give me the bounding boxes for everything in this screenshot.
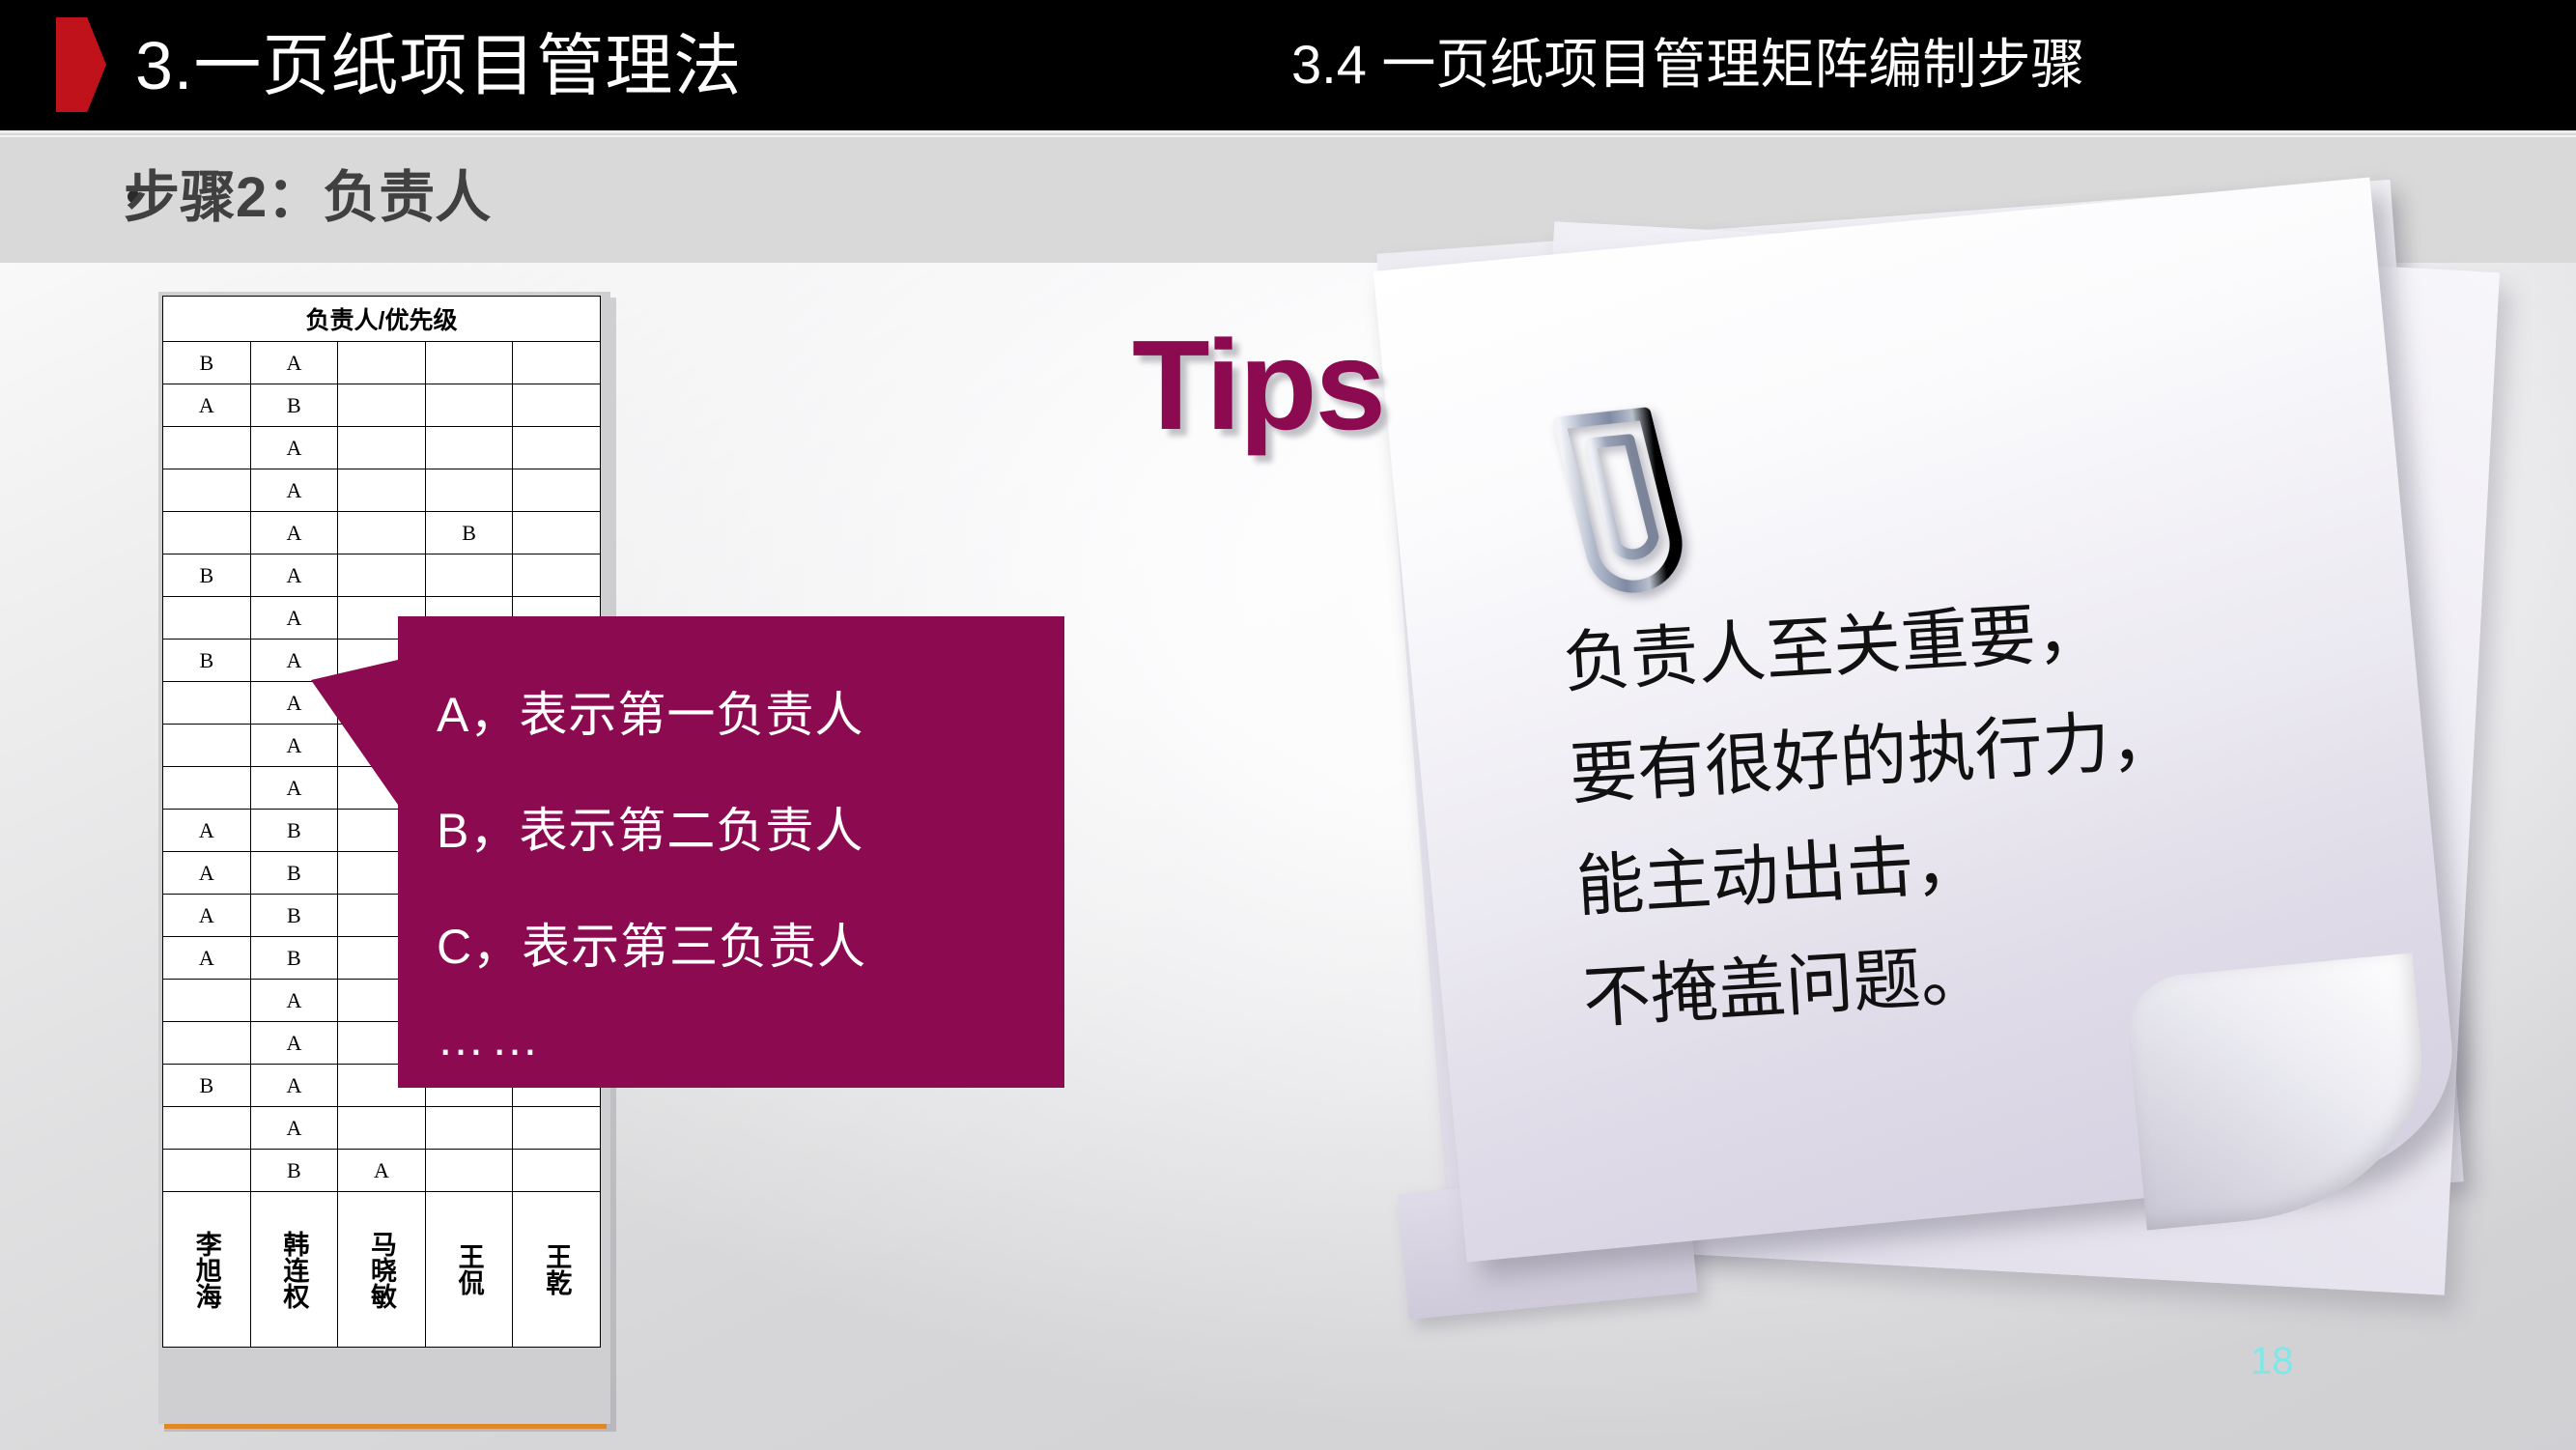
header-bar: 3.一页纸项目管理法 3.4 一页纸项目管理矩阵编制步骤 bbox=[0, 0, 2576, 130]
matrix-cell: B bbox=[163, 1065, 251, 1107]
matrix-row: AB bbox=[163, 384, 601, 427]
matrix-cell bbox=[513, 469, 601, 512]
matrix-cell bbox=[338, 384, 426, 427]
note-text-block: 负责人至关重要， 要有很好的执行力， 能主动出击， 不掩盖问题。 bbox=[1560, 556, 2435, 1054]
header-title-left: 3.一页纸项目管理法 bbox=[135, 6, 742, 126]
legend-callout: A，表示第一负责人 B，表示第二负责人 C，表示第三负责人 …… bbox=[398, 616, 1064, 1088]
matrix-cell: A bbox=[250, 427, 338, 469]
matrix-cell bbox=[163, 980, 251, 1022]
matrix-cell: A bbox=[338, 1150, 426, 1192]
matrix-row: A bbox=[163, 427, 601, 469]
matrix-cell bbox=[425, 427, 513, 469]
subtitle-highlight-line-2 bbox=[0, 135, 2576, 137]
page-number: 18 bbox=[2250, 1340, 2294, 1383]
matrix-cell: B bbox=[250, 937, 338, 980]
matrix-cell: A bbox=[250, 767, 338, 810]
matrix-cell: A bbox=[250, 512, 338, 554]
matrix-cell: A bbox=[163, 852, 251, 895]
matrix-cell bbox=[513, 427, 601, 469]
matrix-cell bbox=[513, 1150, 601, 1192]
matrix-cell bbox=[425, 469, 513, 512]
matrix-header-cell: 负责人/优先级 bbox=[163, 297, 601, 342]
subtitle-highlight-line-1 bbox=[0, 130, 2576, 133]
matrix-cell: A bbox=[250, 469, 338, 512]
matrix-owner-name-cell: 王侃 bbox=[425, 1192, 513, 1348]
matrix-cell bbox=[425, 342, 513, 384]
owner-name-text: 王侃 bbox=[451, 1243, 488, 1295]
matrix-cell: B bbox=[163, 554, 251, 597]
matrix-cell: A bbox=[250, 725, 338, 767]
header-title-right: 3.4 一页纸项目管理矩阵编制步骤 bbox=[1291, 14, 2084, 116]
matrix-cell: B bbox=[163, 640, 251, 682]
matrix-cell: A bbox=[250, 342, 338, 384]
matrix-cell bbox=[513, 512, 601, 554]
tips-heading: Tips bbox=[1132, 312, 1384, 458]
matrix-cell bbox=[163, 1107, 251, 1150]
callout-ellipsis: …… bbox=[437, 1005, 1045, 1072]
matrix-header-row: 负责人/优先级 bbox=[163, 297, 601, 342]
matrix-owner-name-cell: 韩连权 bbox=[250, 1192, 338, 1348]
matrix-cell bbox=[163, 597, 251, 640]
matrix-cell: A bbox=[163, 384, 251, 427]
matrix-cell: A bbox=[163, 937, 251, 980]
subtitle-text: 步骤2：负责人 bbox=[124, 152, 491, 244]
owner-name-text: 马晓敏 bbox=[363, 1231, 400, 1309]
matrix-underline bbox=[164, 1424, 607, 1429]
matrix-cell: A bbox=[250, 1022, 338, 1065]
callout-line: C，表示第三负责人 bbox=[437, 889, 1045, 1005]
matrix-cell bbox=[338, 554, 426, 597]
matrix-cell bbox=[513, 342, 601, 384]
matrix-cell: B bbox=[250, 1150, 338, 1192]
matrix-cell: B bbox=[250, 895, 338, 937]
matrix-cell bbox=[338, 342, 426, 384]
matrix-row: BA bbox=[163, 342, 601, 384]
matrix-cell bbox=[163, 767, 251, 810]
matrix-cell bbox=[163, 682, 251, 725]
matrix-cell bbox=[163, 427, 251, 469]
matrix-owner-name-cell: 马晓敏 bbox=[338, 1192, 426, 1348]
matrix-cell bbox=[163, 469, 251, 512]
matrix-cell bbox=[425, 384, 513, 427]
matrix-cell: B bbox=[163, 342, 251, 384]
matrix-cell: A bbox=[163, 810, 251, 852]
matrix-cell: A bbox=[250, 597, 338, 640]
matrix-cell bbox=[163, 1022, 251, 1065]
owner-name-text: 王乾 bbox=[538, 1243, 575, 1295]
matrix-row: BA bbox=[163, 1150, 601, 1192]
matrix-cell bbox=[425, 1107, 513, 1150]
callout-lines: A，表示第一负责人 B，表示第二负责人 C，表示第三负责人 …… bbox=[437, 657, 1045, 1072]
matrix-cell: A bbox=[250, 1107, 338, 1150]
matrix-row: A bbox=[163, 1107, 601, 1150]
matrix-cell: B bbox=[250, 384, 338, 427]
matrix-cell bbox=[338, 512, 426, 554]
owner-name-text: 李旭海 bbox=[188, 1231, 225, 1309]
matrix-cell bbox=[163, 725, 251, 767]
callout-line: A，表示第一负责人 bbox=[437, 657, 1045, 773]
matrix-cell bbox=[163, 512, 251, 554]
matrix-cell: A bbox=[250, 980, 338, 1022]
matrix-row: BA bbox=[163, 554, 601, 597]
matrix-cell bbox=[513, 1107, 601, 1150]
owner-name-text: 韩连权 bbox=[275, 1231, 312, 1309]
matrix-cell: A bbox=[250, 554, 338, 597]
matrix-cell: A bbox=[163, 895, 251, 937]
matrix-cell bbox=[425, 554, 513, 597]
matrix-cell bbox=[338, 469, 426, 512]
matrix-cell bbox=[338, 1107, 426, 1150]
matrix-cell bbox=[425, 1150, 513, 1192]
matrix-cell bbox=[338, 427, 426, 469]
matrix-owner-names-row: 李旭海韩连权马晓敏王侃王乾 bbox=[163, 1192, 601, 1348]
slide-root: 3.一页纸项目管理法 3.4 一页纸项目管理矩阵编制步骤 步骤2：负责人 bbox=[0, 0, 2576, 1450]
matrix-row: AB bbox=[163, 512, 601, 554]
matrix-cell: A bbox=[250, 640, 338, 682]
callout-line: B，表示第二负责人 bbox=[437, 773, 1045, 889]
matrix-cell: B bbox=[250, 810, 338, 852]
matrix-cell: B bbox=[425, 512, 513, 554]
matrix-owner-name-cell: 李旭海 bbox=[163, 1192, 251, 1348]
matrix-cell: A bbox=[250, 1065, 338, 1107]
matrix-cell: B bbox=[250, 852, 338, 895]
red-arrow-marker-icon bbox=[56, 17, 106, 112]
matrix-row: A bbox=[163, 469, 601, 512]
matrix-cell bbox=[513, 554, 601, 597]
matrix-cell bbox=[513, 384, 601, 427]
matrix-cell bbox=[163, 1150, 251, 1192]
matrix-owner-name-cell: 王乾 bbox=[513, 1192, 601, 1348]
